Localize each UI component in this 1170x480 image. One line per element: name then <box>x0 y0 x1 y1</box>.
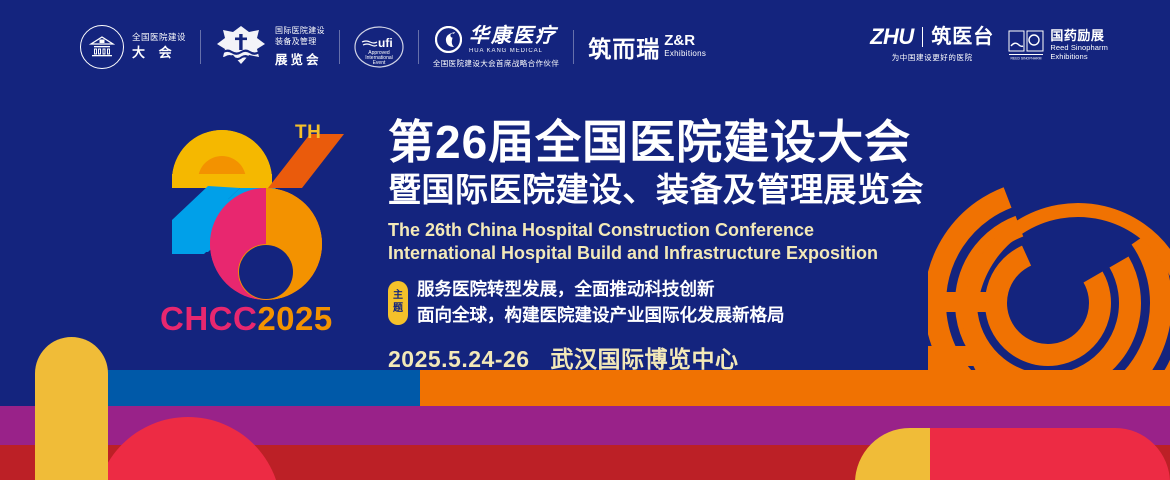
reed-sinopharm-seal-icon: REED SINOPHARM <box>1008 30 1044 60</box>
theme-line-1: 服务医院转型发展，全面推动科技创新 <box>417 277 785 302</box>
expo-label-line3: 展览会 <box>275 49 325 68</box>
logo-expo[interactable]: 国际医院建设 装备及管理 展览会 <box>215 24 325 70</box>
logo-divider <box>200 30 201 64</box>
zhu-en-name: ZHU <box>870 26 914 48</box>
page-subtitle: 暨国际医院建设、装备及管理展览会 <box>388 170 948 210</box>
chcc-label-line2: 大 会 <box>132 46 186 61</box>
hua-kang-leaf-mark-icon <box>435 26 462 53</box>
theme-badge-char1: 主 <box>393 290 403 303</box>
pill-yellow <box>35 337 108 480</box>
logo-divider-3 <box>418 30 419 64</box>
zhu-separator <box>922 27 924 47</box>
logo-reed-sinopharm[interactable]: REED SINOPHARM 国药励展 Reed Sinopharm Exhib… <box>1008 28 1108 62</box>
logo-chcc-conference[interactable]: 全国医院建设 大 会 <box>80 25 186 69</box>
band-orange <box>420 370 1170 406</box>
logo-hua-kang-medical[interactable]: 华康医疗 HUA KANG MEDICAL 全国医院建设大会首席战略合作伙伴 <box>433 26 559 69</box>
logo-zhu-yi-tai[interactable]: ZHU 筑医台 为中国建设更好的医院 <box>870 26 994 63</box>
right-logo-group: ZHU 筑医台 为中国建设更好的医院 REED SINOPHARM <box>870 26 1108 63</box>
th-superscript: TH <box>295 122 321 144</box>
reed-cn-name: 国药励展 <box>1050 28 1108 44</box>
chcc-conference-label: 全国医院建设 大 会 <box>132 33 186 61</box>
page-title: 第26届全国医院建设大会 <box>388 118 948 166</box>
hua-kang-en-name: HUA KANG MEDICAL <box>469 48 557 54</box>
partner-logo-bar: 全国医院建设 大 会 <box>0 0 1170 95</box>
title-english-line1: The 26th China Hospital Construction Con… <box>388 219 948 242</box>
expo-label-line1: 国际医院建设 <box>275 26 325 37</box>
theme-lines: 服务医院转型发展，全面推动科技创新 面向全球，构建医院建设产业国际化发展新格局 <box>417 277 785 328</box>
snowflake-waves-emblem-icon <box>215 24 267 70</box>
chcc-label-line1: 全国医院建设 <box>132 33 186 43</box>
theme-badge: 主 题 <box>388 281 408 325</box>
expo-label: 国际医院建设 装备及管理 展览会 <box>275 26 325 69</box>
ufi-text-event: Event <box>372 60 385 66</box>
hua-kang-cn-name: 华康医疗 <box>469 26 557 46</box>
circular-house-emblem-icon <box>80 25 124 69</box>
title-english-line2: International Hospital Build and Infrast… <box>388 242 948 265</box>
reed-en-line1: Reed Sinopharm <box>1050 43 1108 52</box>
logo-divider-2 <box>339 30 340 64</box>
expo-label-line2: 装备及管理 <box>275 37 325 48</box>
chcc-2025-event-banner: 全国医院建设 大 会 <box>0 0 1170 480</box>
zr-cn-name: 筑而瑞 <box>588 38 660 61</box>
logo-ufi-approved[interactable]: ufi Approved International Event <box>354 26 404 68</box>
svg-text:ufi: ufi <box>378 36 393 50</box>
zhu-cn-name: 筑医台 <box>931 27 994 47</box>
svg-text:REED SINOPHARM: REED SINOPHARM <box>1011 56 1042 60</box>
logo-divider-4 <box>573 30 574 64</box>
theme-block: 主 题 服务医院转型发展，全面推动科技创新 面向全球，构建医院建设产业国际化发展… <box>388 277 948 328</box>
theme-line-2: 面向全球，构建医院建设产业国际化发展新格局 <box>417 303 785 328</box>
bottom-decoration-area <box>0 330 1170 480</box>
logo-26-anniversary-mark <box>158 112 358 312</box>
left-logo-group: 全国医院建设 大 会 <box>80 24 706 70</box>
hua-kang-partner-caption: 全国医院建设大会首席战略合作伙伴 <box>433 58 559 69</box>
zr-en-main: Z&R <box>664 33 706 50</box>
zhu-tagline: 为中国建设更好的医院 <box>892 52 973 63</box>
zr-en-sub: Exhibitions <box>664 50 706 59</box>
theme-badge-char2: 题 <box>393 303 403 316</box>
house-glyph-icon <box>89 35 115 59</box>
logo-zhu-er-rui[interactable]: 筑而瑞 Z&R Exhibitions <box>588 33 706 60</box>
reed-en-line2: Exhibitions <box>1050 52 1108 61</box>
rounded-red <box>930 428 1170 480</box>
